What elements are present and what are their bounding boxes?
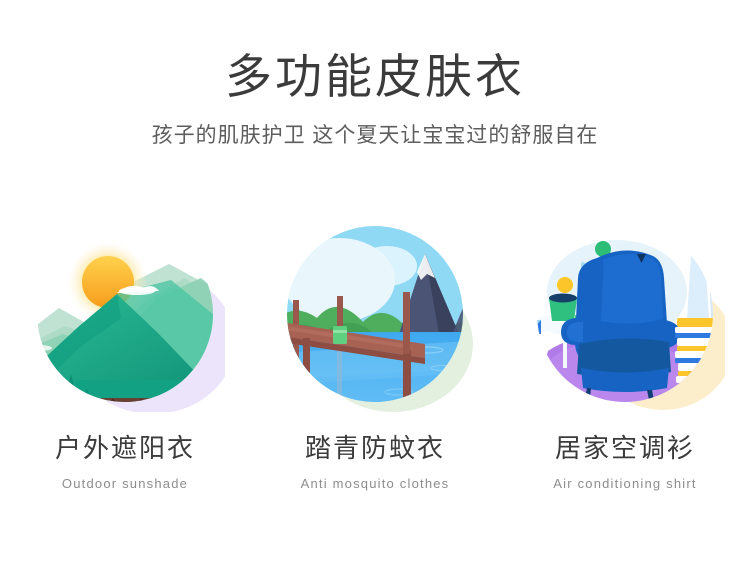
page-subtitle: 孩子的肌肤护卫 这个夏天让宝宝过的舒服自在 bbox=[0, 101, 750, 148]
feature-list: 户外遮阳衣 Outdoor sunshade bbox=[0, 222, 750, 491]
armchair-living-room-illustration bbox=[525, 222, 725, 412]
header: 多功能皮肤衣 孩子的肌肤护卫 这个夏天让宝宝过的舒服自在 bbox=[0, 0, 750, 149]
page-title: 多功能皮肤衣 bbox=[0, 0, 750, 101]
promo-page: 多功能皮肤衣 孩子的肌肤护卫 这个夏天让宝宝过的舒服自在 bbox=[0, 0, 750, 574]
feature-item-anti-mosquito[interactable]: 踏青防蚊衣 Anti mosquito clothes bbox=[250, 222, 500, 491]
feature-caption-cn: 户外遮阳衣 bbox=[55, 434, 195, 463]
feature-caption-cn: 踏青防蚊衣 bbox=[305, 434, 445, 463]
feature-item-air-conditioning[interactable]: 居家空调衫 Air conditioning shirt bbox=[500, 222, 750, 491]
feature-caption-cn: 居家空调衫 bbox=[555, 434, 695, 463]
feature-caption-en: Anti mosquito clothes bbox=[301, 477, 450, 491]
lake-dock-illustration bbox=[275, 222, 475, 412]
feature-item-outdoor-sunshade[interactable]: 户外遮阳衣 Outdoor sunshade bbox=[0, 222, 250, 491]
feature-caption-en: Air conditioning shirt bbox=[553, 477, 696, 491]
mountain-sunrise-illustration bbox=[25, 222, 225, 412]
feature-caption-en: Outdoor sunshade bbox=[62, 477, 188, 491]
